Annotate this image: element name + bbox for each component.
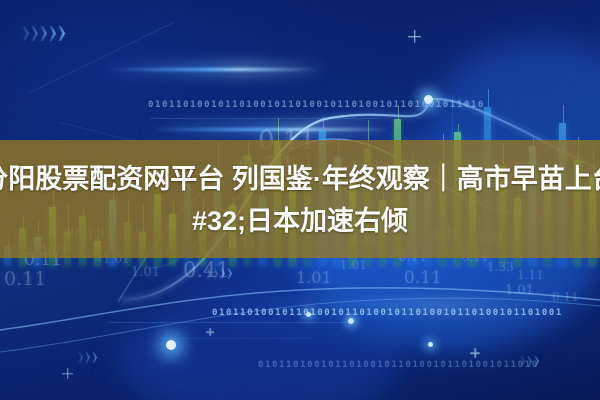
overlay-number: 0.11 xyxy=(4,268,46,290)
headline-line-2: #32;日本加速右倾 xyxy=(192,208,408,235)
chevron-right-icon xyxy=(92,352,97,363)
chevron-right-icon xyxy=(520,356,525,367)
sparkle-icon xyxy=(470,348,480,358)
overlay-number: 0.11 xyxy=(404,268,442,288)
sparkle-icon xyxy=(62,368,73,379)
lower-sweep-curve-2 xyxy=(0,298,600,352)
overlay-number: 1.01 xyxy=(131,265,160,280)
overlay-number: 0.11 xyxy=(552,290,579,304)
chart-bar-wick xyxy=(278,118,279,141)
lower-sweep-curve xyxy=(0,288,600,330)
curve-node-right xyxy=(428,342,433,347)
chevron-right-icon xyxy=(40,26,47,41)
chevron-right-icon xyxy=(85,352,90,363)
rail-diag-left xyxy=(30,22,174,93)
chevron-group-top-left xyxy=(22,26,65,41)
rail-lower2 xyxy=(160,338,310,339)
chart-bar-wick xyxy=(488,89,489,107)
chevron-right-icon xyxy=(58,26,65,41)
chevron-group-mid-left xyxy=(206,268,232,279)
sparkle-icon xyxy=(408,30,421,43)
rail-lower xyxy=(108,322,348,323)
chevron-right-icon xyxy=(227,268,232,279)
chart-bar-wick xyxy=(458,124,459,132)
glow-bottom xyxy=(120,290,400,400)
overlay-number: 1.01 xyxy=(296,268,332,287)
binary-strip-lower: 0101101001011010010110100101101001011010 xyxy=(258,360,539,370)
chevron-right-icon xyxy=(527,356,532,367)
chart-bar-wick xyxy=(398,106,399,119)
headline-line-1: 分阳股票配资网平台 列国鉴·年终观察｜高市早苗上台 xyxy=(0,166,600,193)
overlay-number: 1.01 xyxy=(505,283,534,298)
chevron-right-icon xyxy=(31,26,38,41)
chevron-right-icon xyxy=(78,352,83,363)
chevron-right-icon xyxy=(213,268,218,279)
streak-upper-soft xyxy=(100,64,330,74)
chevron-group-bottom-right xyxy=(520,356,539,367)
chevron-group-bottom-left xyxy=(78,352,97,363)
curve-node-bottom xyxy=(306,312,311,317)
headline-banner: 分阳股票配资网平台 列国鉴·年终观察｜高市早苗上台 #32;日本加速右倾 xyxy=(0,140,600,258)
overlay-number: 1.11 xyxy=(517,268,544,282)
sparkle-icon xyxy=(206,328,214,336)
binary-strip-middle: 0101101001011010010110100101101001011010… xyxy=(212,308,563,318)
chevron-right-icon xyxy=(206,268,211,279)
chevron-right-icon xyxy=(220,268,225,279)
chevron-right-icon xyxy=(49,26,56,41)
streak-upper xyxy=(108,68,318,71)
chart-bar-wick xyxy=(563,105,564,123)
chevron-right-icon xyxy=(534,356,539,367)
chart-bar-wick xyxy=(323,117,324,130)
curve-node-left xyxy=(166,340,176,350)
chevron-right-icon xyxy=(22,26,29,41)
rail-node xyxy=(348,318,354,324)
streak-low-soft xyxy=(250,300,550,310)
banner-image: 0101101001011010010110100101101001011010… xyxy=(0,0,600,400)
